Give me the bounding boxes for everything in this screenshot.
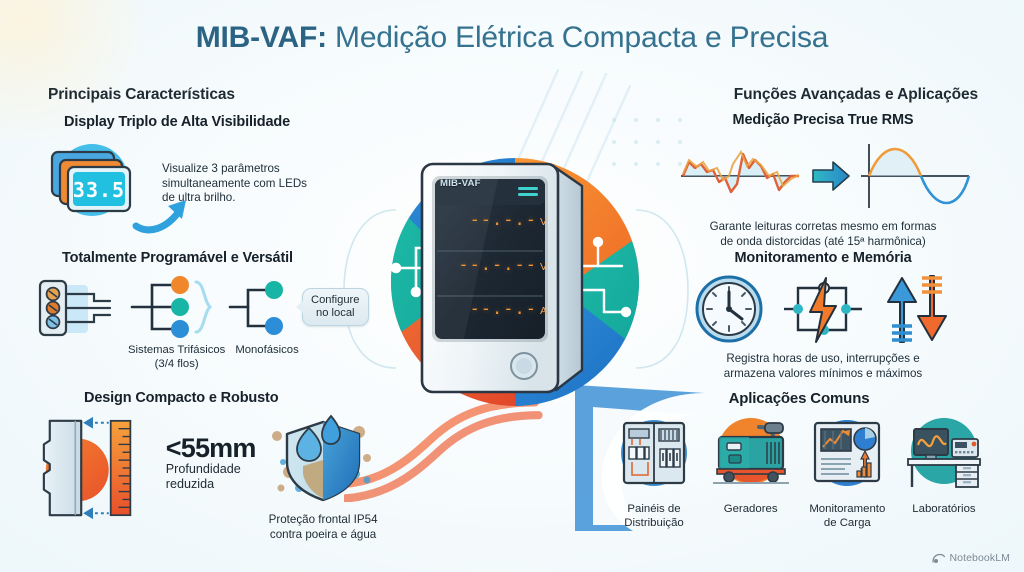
depth-value: <55mm [166, 434, 258, 462]
feature-programmable: Totalmente Programável e Versátil [36, 250, 372, 371]
application-label-line1: Laboratórios [898, 502, 990, 516]
device-readout-1: --.-.- V [440, 210, 548, 230]
feature-true-rms: Medição Precisa True RMS Garante leitura… [658, 112, 988, 249]
feature-compact-design: Design Compacto e Robusto [36, 390, 386, 542]
depth-label-line2: reduzida [166, 477, 258, 492]
generator-icon [707, 415, 795, 491]
feature-compact-design-heading: Design Compacto e Robusto [36, 390, 386, 406]
readout-digits-3: --.-.- [470, 299, 537, 319]
three-phase-caption-line2: (3/4 flos) [128, 358, 225, 372]
three-phase-caption: Sistemas Trifásicos (3/4 flos) [128, 344, 225, 371]
power-interruption-icon [780, 272, 866, 346]
device-depth-icon [36, 412, 164, 524]
feature-true-rms-body: Garante leituras corretas mesmo em forma… [658, 220, 988, 249]
single-phase-caption: Monofásicos [235, 344, 298, 371]
svg-text:33.5: 33.5 [73, 178, 125, 202]
application-label-line1: Monitoramento [801, 502, 893, 516]
device-readout-2: --.-.-- V [440, 255, 548, 275]
title-strong: MIB-VAF: [196, 21, 327, 54]
feature-monitoring-body: Registra horas de uso, interrupções e ar… [658, 352, 988, 381]
application-item[interactable]: Painéis de Distribuição [608, 415, 700, 530]
feature-monitoring-heading: Monitoramento e Memória [658, 250, 988, 266]
readout-digits-1: --.-.- [470, 210, 537, 230]
load-monitoring-icon [803, 415, 891, 491]
monitoring-body-line2: armazena valores mínimos e máximos [724, 367, 922, 380]
min-max-arrows-icon [880, 272, 954, 346]
application-item[interactable]: Geradores [705, 415, 797, 530]
notebooklm-icon [932, 553, 945, 564]
distribution-panel-icon [610, 415, 698, 491]
terminal-block-icon [36, 275, 122, 339]
single-phase-caption-line1: Monofásicos [235, 344, 298, 358]
ip-rating-line2: contra poeira e água [260, 528, 386, 543]
clock-icon [692, 272, 766, 346]
application-label-line2: de Carga [801, 516, 893, 530]
watermark: NotebookLM [932, 552, 1010, 564]
depth-label-line1: Profundidade [166, 462, 258, 477]
feature-triple-display-heading: Display Triplo de Alta Visibilidade [36, 114, 356, 130]
true-rms-waveform-icon [673, 134, 973, 214]
application-label-line2: Distribuição [608, 516, 700, 530]
rms-body-line1: Garante leituras corretas mesmo em forma… [710, 220, 937, 233]
feature-monitoring: Monitoramento e Memória [658, 250, 988, 381]
feature-programmable-heading: Totalmente Programável e Versátil [36, 250, 372, 266]
page-title: MIB-VAF: Medição Elétrica Compacta e Pre… [0, 18, 1024, 58]
feature-true-rms-heading: Medição Precisa True RMS [658, 112, 988, 128]
curved-arrow-icon [132, 190, 200, 234]
mib-vaf-device: MIB-VAF --.-.- V --.-.-- V --.-.- A [416, 160, 576, 390]
infographic-poster: MIB-VAF: Medição Elétrica Compacta e Pre… [0, 0, 1024, 572]
ip54-shield-icon [263, 414, 383, 506]
feature-triple-display: Display Triplo de Alta Visibilidade 33.5… [36, 114, 356, 228]
configure-tooltip: Configure no local [302, 288, 369, 326]
single-phase-tree-icon [226, 272, 298, 342]
feature-applications-heading: Aplicações Comuns [604, 390, 994, 407]
rms-body-line2: de onda distorcidas (até 15ª harmônica) [720, 235, 925, 248]
watermark-label: NotebookLM [949, 552, 1010, 564]
application-item[interactable]: Monitoramento de Carga [801, 415, 893, 530]
device-readout-3: --.-.- A [440, 299, 548, 319]
laboratory-bench-icon [900, 415, 988, 491]
left-column-heading: Principais Características [48, 86, 235, 104]
feature-applications: Aplicações Comuns [604, 390, 994, 530]
three-phase-tree-icon [126, 272, 222, 342]
device-brand-label: MIB-VAF [440, 178, 481, 189]
readout-unit-2: V [540, 261, 548, 273]
application-label-line1: Painéis de [608, 502, 700, 516]
readout-unit-1: V [540, 216, 548, 228]
title-rest: Medição Elétrica Compacta e Precisa [327, 21, 828, 54]
ip-rating-line1: Proteção frontal IP54 [260, 513, 386, 528]
readout-unit-3: A [540, 305, 548, 317]
monitoring-body-line1: Registra horas de uso, interrupções e [726, 352, 919, 365]
configure-tooltip-line2: no local [311, 307, 360, 320]
application-label-line1: Geradores [705, 502, 797, 516]
three-phase-caption-line1: Sistemas Trifásicos [128, 344, 225, 358]
configure-tooltip-line1: Configure [311, 294, 360, 307]
application-item[interactable]: Laboratórios [898, 415, 990, 530]
readout-digits-2: --.-.-- [458, 255, 537, 275]
right-column-heading: Funções Avançadas e Aplicações [734, 86, 978, 104]
